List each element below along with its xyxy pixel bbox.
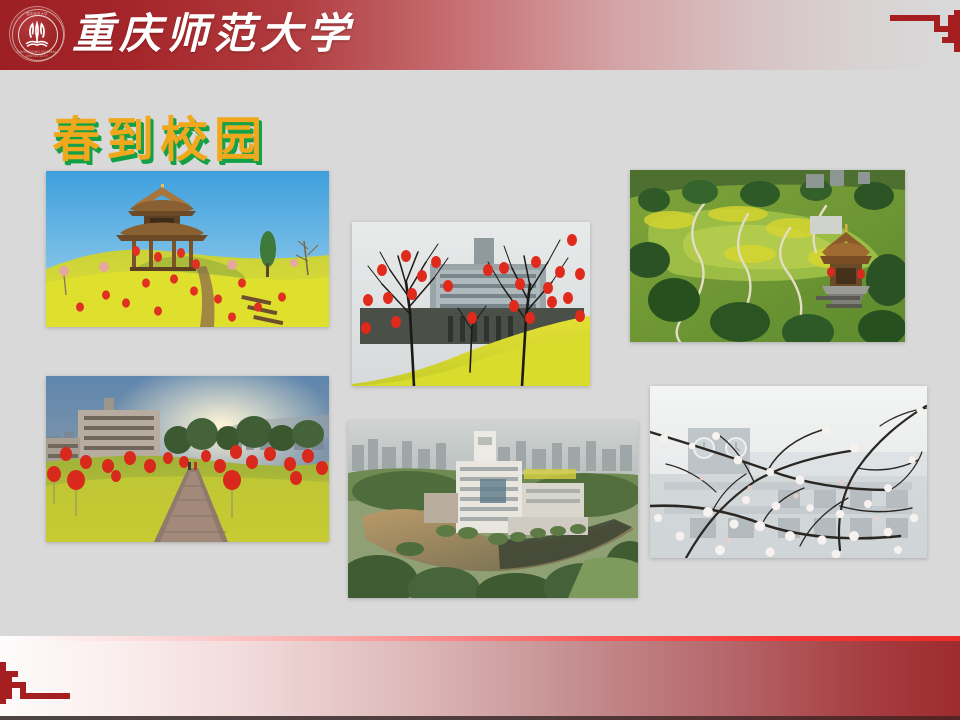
photo-sunset-path-image	[46, 376, 329, 542]
photo-aerial-library-image	[348, 421, 638, 598]
meander-ornament-bottom-left-icon	[0, 662, 70, 704]
photo-lanterns-building	[352, 222, 590, 386]
photo-sunset-path	[46, 376, 329, 542]
footer-gradient-band	[0, 641, 960, 720]
photo-pagoda-hilltop-image	[46, 171, 329, 327]
page-title: 春到校园	[52, 100, 268, 170]
university-name-title: 重庆师范大学	[72, 7, 354, 63]
header-content: 重庆师范大学 CHONGQING NORMAL UNIVERSITY	[0, 0, 960, 70]
photo-aerial-pavilion-image	[630, 170, 905, 342]
university-seal-logo: 重庆师范大学 CHONGQING NORMAL UNIVERSITY	[9, 6, 65, 62]
seal-text-top: 重庆师范大学	[9, 11, 65, 16]
photo-aerial-pavilion	[630, 170, 905, 342]
meander-ornament-top-right-icon	[890, 10, 960, 52]
seal-text-bottom: CHONGQING NORMAL UNIVERSITY	[9, 50, 65, 58]
photo-lanterns-building-image	[352, 222, 590, 386]
seal-emblem-icon	[23, 19, 51, 49]
slide-footer-bar	[0, 636, 960, 720]
photo-blossom-clocktower-image	[650, 386, 927, 558]
footer-base-line	[0, 716, 960, 720]
photo-blossom-clocktower	[650, 386, 927, 558]
photo-aerial-library	[348, 421, 638, 598]
presentation-slide: 重庆师范大学 CHONGQING NORMAL UNIVERSITY	[0, 0, 960, 720]
photo-pagoda-hilltop	[46, 171, 329, 327]
slide-header-bar: 重庆师范大学 CHONGQING NORMAL UNIVERSITY	[0, 0, 960, 70]
